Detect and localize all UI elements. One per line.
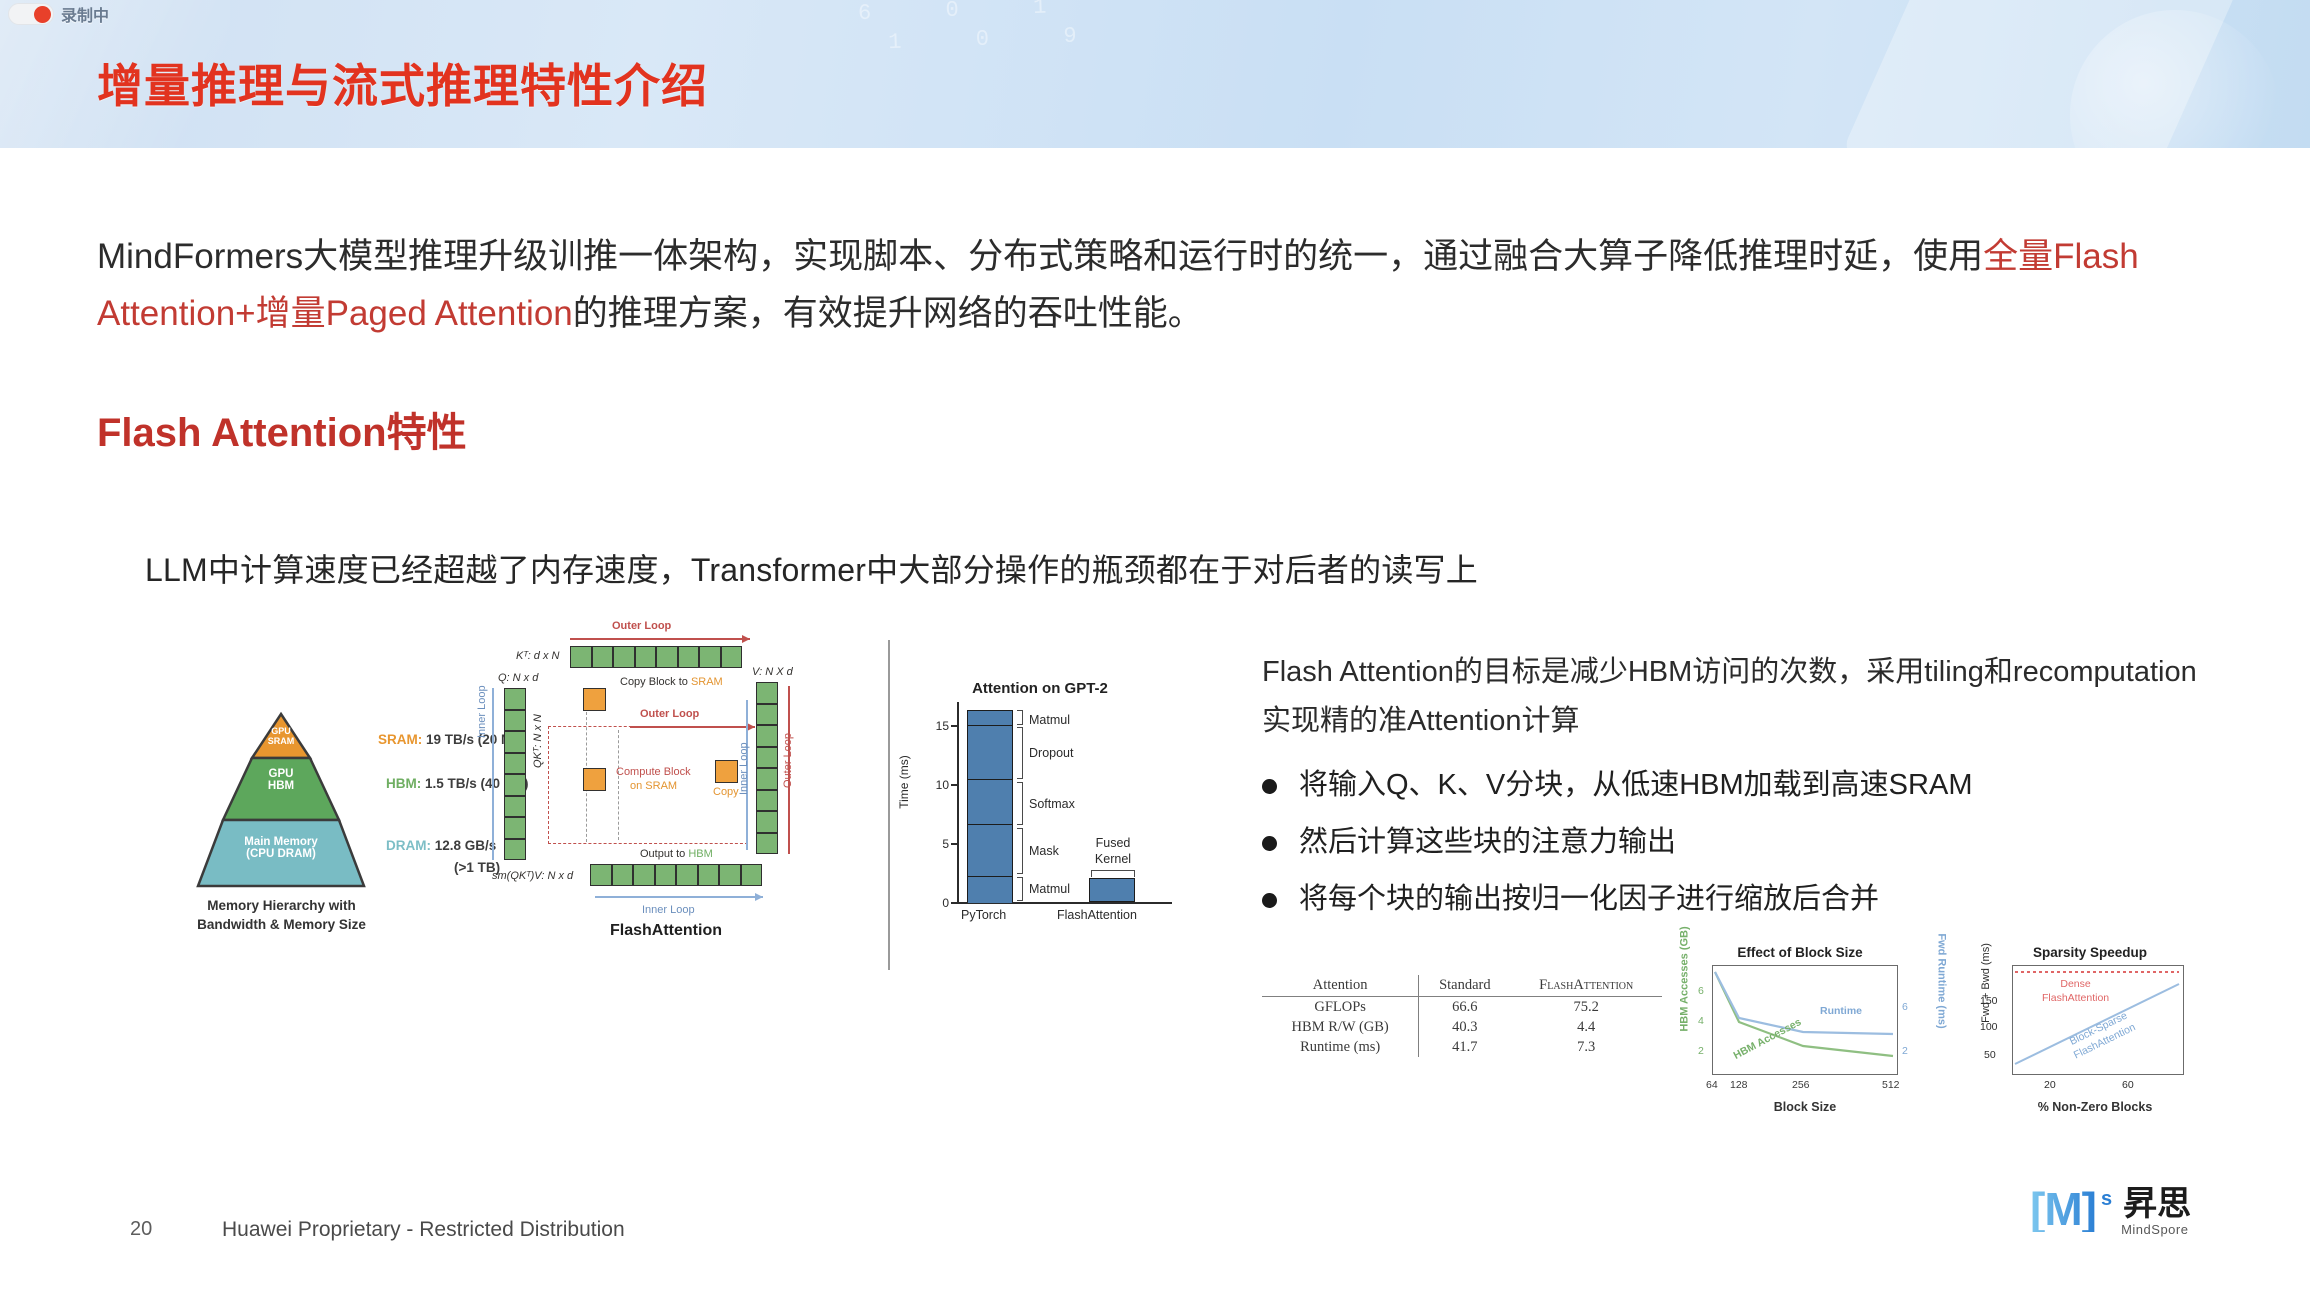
out-cell [698, 864, 720, 886]
kt-cell [635, 646, 657, 668]
v-cell [756, 704, 778, 726]
bar-segment-matmul-bottom [968, 877, 1012, 903]
copy-block-text: Copy Block to [620, 676, 688, 688]
v-cell [756, 768, 778, 790]
brace-mask [1017, 828, 1023, 874]
out-cell [676, 864, 698, 886]
segment-label-mask: Mask [1029, 844, 1059, 858]
kt-label: Kᵀ: d x N [516, 650, 559, 662]
kt-cell [613, 646, 635, 668]
brace-fused-kernel [1091, 870, 1135, 877]
brace-matmul-bottom [1017, 877, 1023, 901]
slide-canvas: 录制中 6 0 1 1 0 9 增量推理与流式推理特性介绍 MindFormer… [0, 0, 2310, 1290]
q-cell [504, 710, 526, 732]
fused-kernel-label: Fused Kernel [1068, 835, 1158, 867]
out-cell [719, 864, 741, 886]
chart-title: Attention on GPT-2 [905, 680, 1175, 697]
copy-label: Copy [713, 786, 739, 798]
outer-loop-vertical-label: Outer Loop [782, 733, 794, 788]
table-row: Runtime (ms) 41.7 7.3 [1262, 1037, 1662, 1057]
col-header-attention: Attention [1262, 975, 1419, 997]
q-label: Q: N x d [498, 672, 538, 684]
y-tick-10: 10 [927, 778, 949, 792]
v-cell [756, 811, 778, 833]
v-cell [756, 725, 778, 747]
out-cell [655, 864, 677, 886]
page-title: 增量推理与流式推理特性介绍 [97, 50, 708, 116]
arrow-head [595, 893, 763, 901]
inner-loop-bottom-label: Inner Loop [642, 904, 695, 916]
attention-results-table: Attention Standard FlashAttention GFLOPs… [1262, 975, 1662, 1057]
outer-loop-top-arrow [570, 638, 750, 640]
brace-dropout [1017, 727, 1023, 779]
v-cell [756, 790, 778, 812]
inner-loop-left-label: Inner Loop [476, 685, 488, 738]
list-item: 将每个块的输出按归一化因子进行缩放后合并 [1262, 879, 2222, 919]
flashattention-bar [1089, 878, 1135, 902]
x-tick-64: 64 [1706, 1079, 1718, 1091]
chart-title: Effect of Block Size [1700, 945, 1900, 960]
flash-attention-bullet-list: 将输入Q、K、V分块，从低速HBM加载到高速SRAM 然后计算这些块的注意力输出… [1262, 765, 2222, 936]
x-tick-pytorch: PyTorch [961, 908, 1006, 922]
copy-square-icon [715, 760, 738, 783]
intro-paragraph-part1: MindFormers大模型推理升级训推一体架构，实现脚本、分布式策略和运行时的… [97, 237, 1983, 276]
out-cell [590, 864, 612, 886]
chart-title: Sparsity Speedup [1980, 945, 2200, 960]
caption-line-1: Memory Hierarchy with [207, 898, 356, 913]
y-tick-100: 100 [1980, 1021, 1998, 1033]
kt-cell [592, 646, 614, 668]
list-item: 然后计算这些块的注意力输出 [1262, 822, 2222, 862]
q-cell [504, 839, 526, 861]
table-head: Attention Standard FlashAttention [1262, 975, 1662, 997]
segment-label-dropout: Dropout [1029, 746, 1073, 760]
logo-english-name: MindSpore [2121, 1222, 2191, 1237]
y-tick-50: 50 [1984, 1049, 1996, 1061]
y-tick-left-4: 4 [1698, 1015, 1704, 1027]
q-cell [504, 688, 526, 710]
kt-cell [656, 646, 678, 668]
row-label-gflops: GFLOPs [1262, 997, 1419, 1018]
annotation-dense-flashattention: Dense FlashAttention [2042, 977, 2109, 1005]
y-tick-0: 0 [927, 896, 949, 910]
fused-label-line1: Fused [1096, 836, 1131, 850]
v-cell [756, 682, 778, 704]
y-tick-right-2: 2 [1902, 1045, 1908, 1057]
inner-loop-right-label: Inner Loop [738, 742, 750, 795]
annotation-line2: FlashAttention [2042, 992, 2109, 1004]
intro-paragraph-part2: 的推理方案，有效提升网络的吞吐性能。 [573, 294, 1203, 333]
caption-line-2: Bandwidth & Memory Size [197, 917, 366, 932]
inner-loop-bottom-arrow [595, 896, 763, 898]
dashed-connector [618, 730, 619, 840]
chart-x-axis-label: Block Size [1712, 1100, 1898, 1114]
x-tick-flashattention: FlashAttention [1057, 908, 1137, 922]
col-header-flashattention: FlashAttention [1510, 975, 1662, 997]
output-to-text: Output to [640, 848, 685, 860]
y-tickmark-5 [951, 843, 957, 845]
list-item: 将输入Q、K、V分块，从低速HBM加载到高速SRAM [1262, 765, 2222, 805]
pyramid-level-dram-label: Main Memory(CPU DRAM) [196, 836, 366, 860]
q-inner-loop-arrow [492, 688, 494, 860]
footer-confidentiality-note: Huawei Proprietary - Restricted Distribu… [222, 1218, 625, 1242]
qkt-label: QKᵀ: N x N [532, 714, 544, 768]
results-table: Attention Standard FlashAttention GFLOPs… [1262, 975, 1662, 1057]
cell-gflops-standard: 66.6 [1419, 997, 1511, 1018]
cell-hbm-standard: 40.3 [1419, 1017, 1511, 1037]
sparsity-speedup-chart: Sparsity Speedup Fwd + Bwd (ms) 150 100 … [1960, 945, 2220, 1125]
cell-hbm-flash: 4.4 [1510, 1017, 1662, 1037]
q-cell [504, 796, 526, 818]
out-cell [612, 864, 634, 886]
kt-cell [570, 646, 592, 668]
chart-y-axis [957, 702, 959, 902]
pytorch-stacked-bar [967, 710, 1013, 902]
kt-cell [678, 646, 700, 668]
x-tick-60: 60 [2122, 1079, 2134, 1091]
x-tick-128: 128 [1730, 1079, 1748, 1091]
table-row: HBM R/W (GB) 40.3 4.4 [1262, 1017, 1662, 1037]
v-cell [756, 747, 778, 769]
out-cell [633, 864, 655, 886]
brace-softmax [1017, 782, 1023, 825]
table-body: GFLOPs 66.6 75.2 HBM R/W (GB) 40.3 4.4 R… [1262, 997, 1662, 1058]
memory-pyramid-icon: GPUSRAM GPUHBM Main Memory(CPU DRAM) [196, 710, 366, 890]
copy-block-label: Copy Block to SRAM [620, 676, 723, 688]
logo-chinese-name: 昇思 [2123, 1186, 2191, 1222]
mindspore-logo: [M] s 昇思 MindSpore [2030, 1186, 2191, 1237]
memory-hierarchy-caption: Memory Hierarchy with Bandwidth & Memory… [174, 896, 389, 934]
outer-loop-top-label: Outer Loop [612, 620, 671, 632]
bullet-text: 将每个块的输出按归一化因子进行缩放后合并 [1299, 879, 1879, 919]
recording-label: 录制中 [61, 2, 109, 26]
cell-gflops-flash: 75.2 [1510, 997, 1662, 1018]
output-to-target: HBM [688, 848, 712, 860]
table-row: GFLOPs 66.6 75.2 [1262, 997, 1662, 1018]
cell-runtime-standard: 41.7 [1419, 1037, 1511, 1057]
logo-mark: [M] [2030, 1186, 2096, 1232]
recording-indicator[interactable]: 录制中 [8, 2, 109, 26]
kt-cell [721, 646, 743, 668]
x-tick-20: 20 [2044, 1079, 2056, 1091]
chart-y-axis-label-right: Fwd Runtime (ms) [1936, 933, 1948, 1028]
q-cell [504, 817, 526, 839]
y-tickmark-10 [951, 784, 957, 786]
copy-block-square-icon [583, 688, 606, 711]
intro-paragraph: MindFormers大模型推理升级训推一体架构，实现脚本、分布式策略和运行时的… [97, 228, 2222, 342]
row-label-runtime: Runtime (ms) [1262, 1037, 1419, 1057]
v-cell [756, 833, 778, 855]
x-tick-256: 256 [1792, 1079, 1810, 1091]
bar-segment-matmul-top [968, 711, 1012, 726]
flash-attention-intro: Flash Attention的目标是减少HBM访问的次数，采用tiling和r… [1262, 648, 2202, 746]
page-number: 20 [130, 1218, 152, 1241]
series-label-runtime: Runtime [1820, 1005, 1862, 1017]
v-block-column [756, 682, 778, 854]
output-to-hbm-label: Output to HBM [640, 848, 713, 860]
row-label-hbm-rw: HBM R/W (GB) [1262, 1017, 1419, 1037]
section-heading: Flash Attention特性 [97, 400, 467, 458]
q-cell [504, 753, 526, 775]
annotation-line1: Dense [2060, 978, 2090, 990]
q-cell [504, 774, 526, 796]
bullet-dot-icon [1262, 836, 1277, 851]
v-label: V: N X d [752, 666, 793, 678]
y-tick-5: 5 [927, 837, 949, 851]
y-tickmark-15 [951, 725, 957, 727]
table-header-row: Attention Standard FlashAttention [1262, 975, 1662, 997]
x-tick-512: 512 [1882, 1079, 1900, 1091]
figure-divider [888, 640, 890, 970]
pyramid-level-sram-label: GPUSRAM [196, 726, 366, 746]
q-block-column [504, 688, 526, 860]
effect-of-block-size-chart: Effect of Block Size HBM Accesses (GB) F… [1670, 945, 1940, 1125]
y-tickmark-0 [951, 902, 957, 904]
out-cell [741, 864, 763, 886]
compute-block-label-1: Compute Block [616, 766, 691, 778]
kt-cell [699, 646, 721, 668]
bar-segment-mask [968, 825, 1012, 877]
outer-loop-mid-label: Outer Loop [640, 708, 699, 720]
cell-runtime-flash: 7.3 [1510, 1037, 1662, 1057]
bullet-text: 然后计算这些块的注意力输出 [1299, 822, 1676, 862]
logo-superscript: s [2101, 1188, 2112, 1211]
compute-block-square-icon [583, 768, 606, 791]
chart-y-axis-label-left: HBM Accesses (GB) [1679, 926, 1691, 1031]
segment-label-matmul-bottom: Matmul [1029, 882, 1070, 896]
chart-y-axis-label: Fwd + Bwd (ms) [1980, 943, 1992, 1023]
bullet-dot-icon [1262, 893, 1277, 908]
q-cell [504, 731, 526, 753]
segment-label-matmul-top: Matmul [1029, 713, 1070, 727]
output-block-row [590, 864, 762, 886]
bullet-dot-icon [1262, 779, 1277, 794]
bar-segment-softmax [968, 780, 1012, 825]
flash-attention-diagram: Outer Loop Kᵀ: d x N Copy Block to SRAM … [470, 620, 860, 950]
recording-toggle[interactable] [8, 3, 54, 25]
record-dot-icon [34, 6, 51, 23]
y-tick-150: 150 [1980, 995, 1998, 1007]
bullet-text: 将输入Q、K、V分块，从低速HBM加载到高速SRAM [1299, 765, 1972, 805]
lead-text: LLM中计算速度已经超越了内存速度，Transformer中大部分操作的瓶颈都在… [145, 545, 1478, 591]
col-header-standard: Standard [1419, 975, 1511, 997]
arrow-head [570, 635, 750, 643]
pyramid-level-hbm-label: GPUHBM [196, 768, 366, 792]
logo-text-block: 昇思 MindSpore [2121, 1186, 2191, 1237]
copy-block-target: SRAM [691, 676, 723, 688]
y-tick-left-2: 2 [1698, 1045, 1704, 1057]
y-tick-left-6: 6 [1698, 985, 1704, 997]
output-matrix-label: sm(QKᵀ)V: N x d [492, 870, 573, 882]
chart-y-axis-label: Time (ms) [897, 755, 911, 809]
segment-label-softmax: Softmax [1029, 797, 1075, 811]
chart-x-axis-label: % Non-Zero Blocks [1990, 1100, 2200, 1114]
kt-block-row [570, 646, 742, 668]
y-tick-right-6: 6 [1902, 1001, 1908, 1013]
attention-gpt2-bar-chart: Attention on GPT-2 Time (ms) 0 5 10 15 M… [905, 680, 1175, 950]
brace-matmul-top [1017, 710, 1023, 725]
y-tick-15: 15 [927, 719, 949, 733]
bar-segment-dropout [968, 726, 1012, 780]
fused-label-line2: Kernel [1095, 852, 1131, 866]
flash-attention-figure-title: FlashAttention [610, 922, 722, 940]
banner-code-decoration: 6 0 1 1 0 9 [858, 0, 1383, 148]
compute-block-label-2: on SRAM [630, 780, 677, 792]
